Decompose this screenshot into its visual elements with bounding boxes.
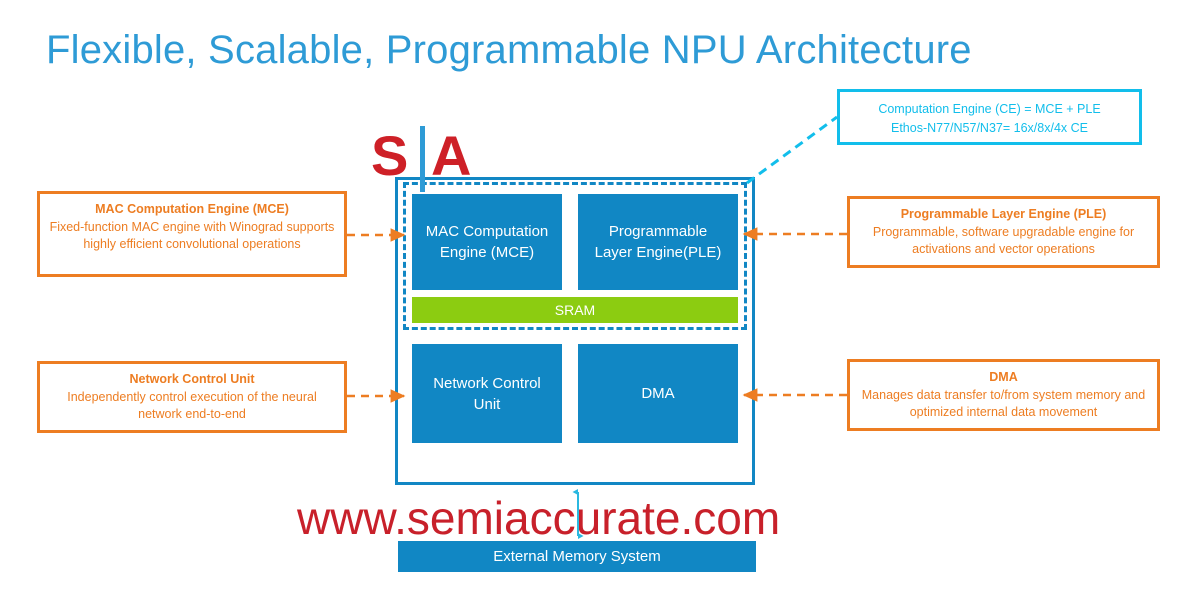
- callout-mce[interactable]: MAC Computation Engine (MCE) Fixed-funct…: [37, 191, 347, 277]
- block-ple-line1: Programmable: [609, 223, 707, 240]
- slide-canvas: Flexible, Scalable, Programmable NPU Arc…: [0, 0, 1200, 592]
- block-mce-line1: MAC Computation: [426, 223, 549, 240]
- leader-compute-engine: [747, 117, 837, 183]
- callout-dma[interactable]: DMA Manages data transfer to/from system…: [847, 359, 1160, 431]
- block-programmable-layer-engine[interactable]: Programmable Layer Engine(PLE): [578, 194, 738, 290]
- block-dma[interactable]: DMA: [578, 344, 738, 443]
- callout-ple-body: Programmable, software upgradable engine…: [859, 224, 1148, 258]
- callout-mce-title: MAC Computation Engine (MCE): [49, 201, 335, 218]
- block-external-memory-system[interactable]: External Memory System: [398, 541, 756, 572]
- callout-mce-body: Fixed-function MAC engine with Winograd …: [49, 219, 335, 253]
- logo-letter-a: A: [431, 128, 471, 184]
- callout-ple-title: Programmable Layer Engine (PLE): [859, 206, 1148, 223]
- callout-dma-title: DMA: [859, 369, 1148, 386]
- block-ple-line2: Layer Engine(PLE): [595, 244, 722, 261]
- logo-divider-bar: [420, 126, 425, 192]
- callout-dma-body: Manages data transfer to/from system mem…: [859, 387, 1148, 421]
- callout-ce-line1: Computation Engine (CE) = MCE + PLE: [878, 102, 1100, 116]
- callout-ple[interactable]: Programmable Layer Engine (PLE) Programm…: [847, 196, 1160, 268]
- block-ncu-line2: Unit: [474, 396, 501, 413]
- logo-letter-s: S: [371, 128, 408, 184]
- page-title: Flexible, Scalable, Programmable NPU Arc…: [46, 26, 972, 74]
- block-dma-label: DMA: [641, 383, 674, 404]
- external-memory-label: External Memory System: [493, 548, 661, 565]
- watermark: www.semiaccurate.com: [297, 492, 780, 544]
- callout-compute-engine[interactable]: Computation Engine (CE) = MCE + PLE Etho…: [837, 89, 1142, 145]
- block-sram-label: SRAM: [555, 302, 595, 318]
- callout-ncu-title: Network Control Unit: [49, 371, 335, 388]
- callout-ncu-body: Independently control execution of the n…: [49, 389, 335, 423]
- block-ncu-line1: Network Control: [433, 375, 541, 392]
- semiaccurate-logo: S A: [371, 128, 491, 186]
- memory-bus-double-arrow: [572, 486, 584, 542]
- callout-ncu[interactable]: Network Control Unit Independently contr…: [37, 361, 347, 433]
- block-sram[interactable]: SRAM: [412, 297, 738, 323]
- block-network-control-unit[interactable]: Network Control Unit: [412, 344, 562, 443]
- callout-ce-line2: Ethos-N77/N57/N37= 16x/8x/4x CE: [891, 121, 1088, 135]
- block-mce-line2: Engine (MCE): [440, 244, 534, 261]
- block-mac-computation-engine[interactable]: MAC Computation Engine (MCE): [412, 194, 562, 290]
